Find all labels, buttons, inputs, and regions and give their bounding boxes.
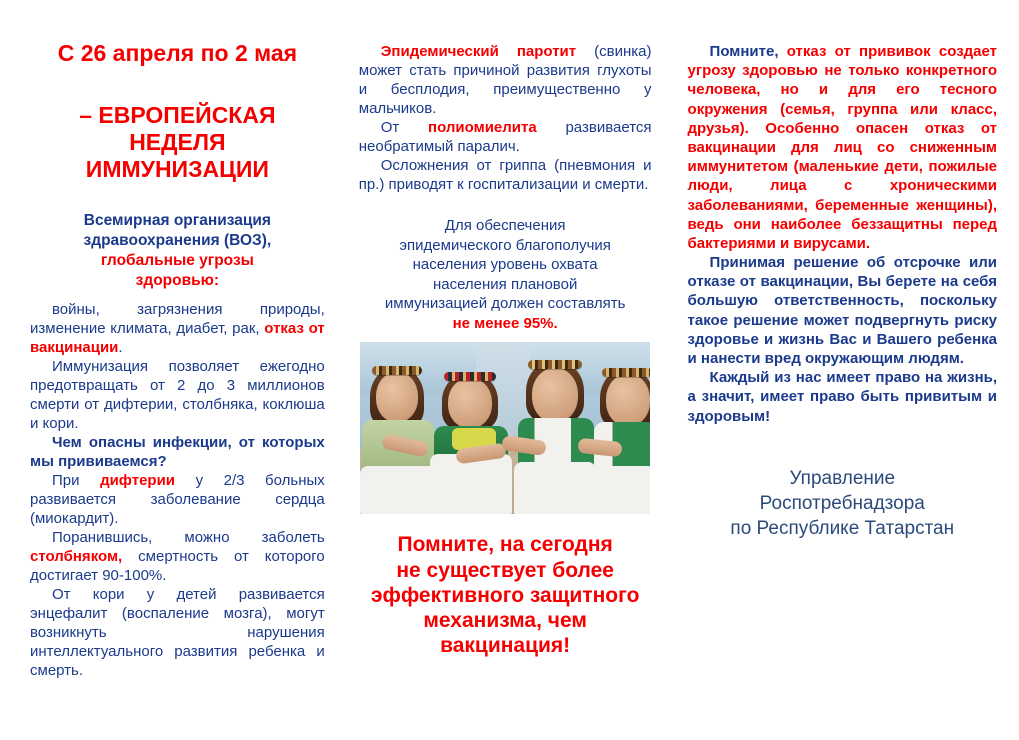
who-heading-line2: здравоохранения (ВОЗ), — [30, 231, 325, 251]
slogan-line5: вакцинация! — [359, 633, 652, 658]
photo-girl-4-head — [606, 374, 650, 426]
campaign-main-title-line3: ИММУНИЗАЦИИ — [30, 156, 325, 183]
middle-column: Эпидемический паротит (свинка) может ста… — [343, 34, 668, 730]
photo-girl-3 — [512, 342, 598, 514]
photo-girl-3-apron — [514, 462, 596, 514]
left-paragraph-threats: войны, загрязнения природы, изменение кл… — [30, 300, 325, 357]
photo-girl-2-headdress — [444, 372, 496, 381]
campaign-main-title-line2: НЕДЕЛЯ — [30, 129, 325, 156]
mid-p2-plain1: От — [381, 119, 428, 136]
photo-girl-2 — [426, 342, 514, 514]
left-paragraph-immunization: Иммунизация позволяет ежегодно предотвра… — [30, 357, 325, 433]
left-p4-plain1: При — [52, 472, 100, 489]
photo-girl-4 — [592, 342, 650, 514]
left-column: С 26 апреля по 2 мая – ЕВРОПЕЙСКАЯ НЕДЕЛ… — [8, 34, 343, 730]
mid-p2-red1: полиомиелита — [428, 119, 537, 136]
right-paragraph-responsibility: Принимая решение об отсрочке или отказе … — [688, 253, 997, 368]
coverage-line5: иммунизацией должен составлять — [359, 294, 652, 314]
photo-girl-3-head — [532, 368, 578, 422]
left-paragraph-diphtheria: При дифтерии у 2/3 больных развивается з… — [30, 471, 325, 528]
left-p5-red1: столбняком, — [30, 548, 122, 565]
left-p4-red1: дифтерии — [100, 472, 175, 489]
coverage-line1: Для обеспечения — [359, 216, 652, 236]
mid-p1-red1: Эпидемический паротит — [381, 43, 576, 60]
mid-paragraph-polio: От полиомиелита развивается необратимый … — [359, 118, 652, 156]
vaccinated-children-photo — [360, 342, 650, 514]
campaign-main-title: – ЕВРОПЕЙСКАЯ НЕДЕЛЯ ИММУНИЗАЦИИ — [30, 102, 325, 183]
campaign-date-title: С 26 апреля по 2 мая — [30, 40, 325, 68]
right-p1-blue1: Помните, — [710, 43, 779, 60]
left-p5-plain1: Поранившись, можно заболеть — [52, 529, 325, 546]
who-heading-line4: здоровью: — [30, 271, 325, 291]
slogan-line3: эффективного защитного — [359, 583, 652, 608]
mid-paragraph-mumps: Эпидемический паротит (свинка) может ста… — [359, 42, 652, 118]
coverage-note: Для обеспечения эпидемического благополу… — [359, 216, 652, 333]
photo-girl-4-apron — [592, 466, 650, 514]
photo-girl-3-headdress — [528, 360, 582, 369]
coverage-line3: населения уровень охвата — [359, 255, 652, 275]
issuing-organization: Управление Роспотребнадзора по Республик… — [688, 466, 997, 541]
organization-line2: Роспотребнадзора — [688, 491, 997, 516]
coverage-highlight: не менее 95%. — [359, 314, 652, 334]
right-p1-red1: отказ от прививок создает угрозу здоровь… — [688, 43, 997, 252]
left-paragraph-tetanus: Поранившись, можно заболеть столбняком, … — [30, 528, 325, 585]
coverage-line4: населения плановой — [359, 275, 652, 295]
poster-columns: С 26 апреля по 2 мая – ЕВРОПЕЙСКАЯ НЕДЕЛ… — [0, 0, 1019, 740]
who-heading-line3: глобальные угрозы — [30, 251, 325, 271]
photo-girl-2-head — [448, 378, 492, 428]
vaccination-slogan: Помните, на сегодня не существует более … — [359, 532, 652, 658]
poster-page: С 26 апреля по 2 мая – ЕВРОПЕЙСКАЯ НЕДЕЛ… — [0, 0, 1019, 740]
photo-girl-4-headdress — [602, 368, 650, 377]
slogan-line1: Помните, на сегодня — [359, 532, 652, 557]
right-paragraph-refusal-risk: Помните, отказ от прививок создает угроз… — [688, 42, 997, 253]
photo-girl-2-apron — [430, 454, 512, 514]
who-heading-line1: Всемирная организация — [30, 211, 325, 231]
photo-girl-1-head — [376, 372, 418, 422]
organization-line3: по Республике Татарстан — [688, 516, 997, 541]
coverage-line2: эпидемического благополучия — [359, 236, 652, 256]
left-paragraph-question: Чем опасны инфекции, от которых мы приви… — [30, 433, 325, 471]
who-threats-heading: Всемирная организация здравоохранения (В… — [30, 211, 325, 292]
slogan-line4: механизма, чем — [359, 608, 652, 633]
slogan-line2: не существует более — [359, 558, 652, 583]
mid-paragraph-flu: Осложнения от гриппа (пневмония и пр.) п… — [359, 156, 652, 194]
organization-line1: Управление — [688, 466, 997, 491]
left-paragraph-measles: От кори у детей развивается энцефалит (в… — [30, 585, 325, 680]
left-p1-plain2: . — [118, 339, 122, 356]
campaign-main-title-line1: – ЕВРОПЕЙСКАЯ — [30, 102, 325, 129]
photo-girl-1-headdress — [372, 366, 422, 375]
photo-container — [359, 342, 652, 514]
right-column: Помните, отказ от прививок создает угроз… — [668, 34, 1011, 730]
right-paragraph-right-to-life: Каждый из нас имеет право на жизнь, а зн… — [688, 368, 997, 426]
